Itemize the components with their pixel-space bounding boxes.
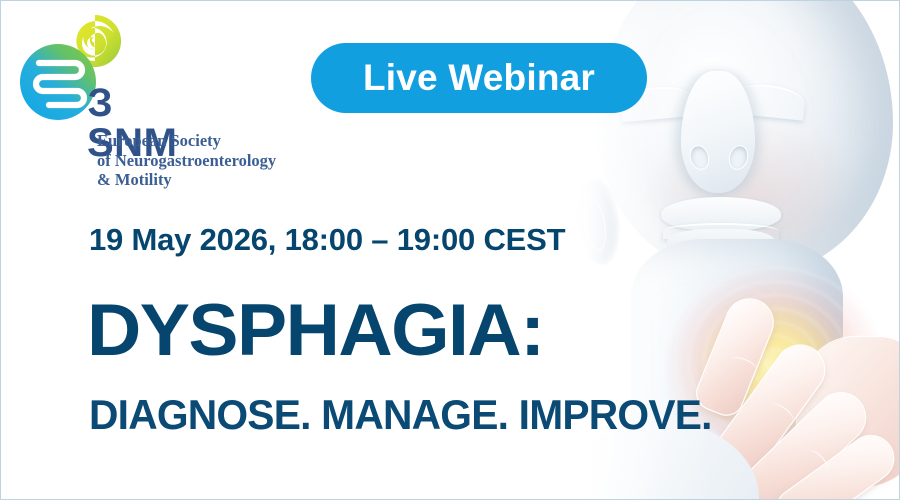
esnm-tagline-line-2: of Neurogastroenterology (97, 151, 276, 171)
esnm-tagline: European Society of Neurogastroenterolog… (97, 131, 276, 190)
webinar-banner: ƐSNM European Society of Neurogastroente… (0, 0, 900, 500)
esnm-tagline-line-3: & Motility (97, 170, 276, 190)
live-webinar-badge[interactable]: Live Webinar (311, 43, 647, 113)
page-subtitle: DIAGNOSE. MANAGE. IMPROVE. (89, 394, 712, 436)
event-datetime: 19 May 2026, 18:00 – 19:00 CEST (89, 222, 565, 258)
banner-content: ƐSNM European Society of Neurogastroente… (1, 1, 899, 499)
intestine-circle-icon (19, 43, 97, 121)
esnm-tagline-line-1: European Society (97, 131, 276, 151)
esnm-wordmark-epsilon: Ɛ (87, 83, 113, 123)
live-webinar-badge-label: Live Webinar (363, 57, 595, 99)
page-title: DYSPHAGIA: (87, 294, 544, 367)
